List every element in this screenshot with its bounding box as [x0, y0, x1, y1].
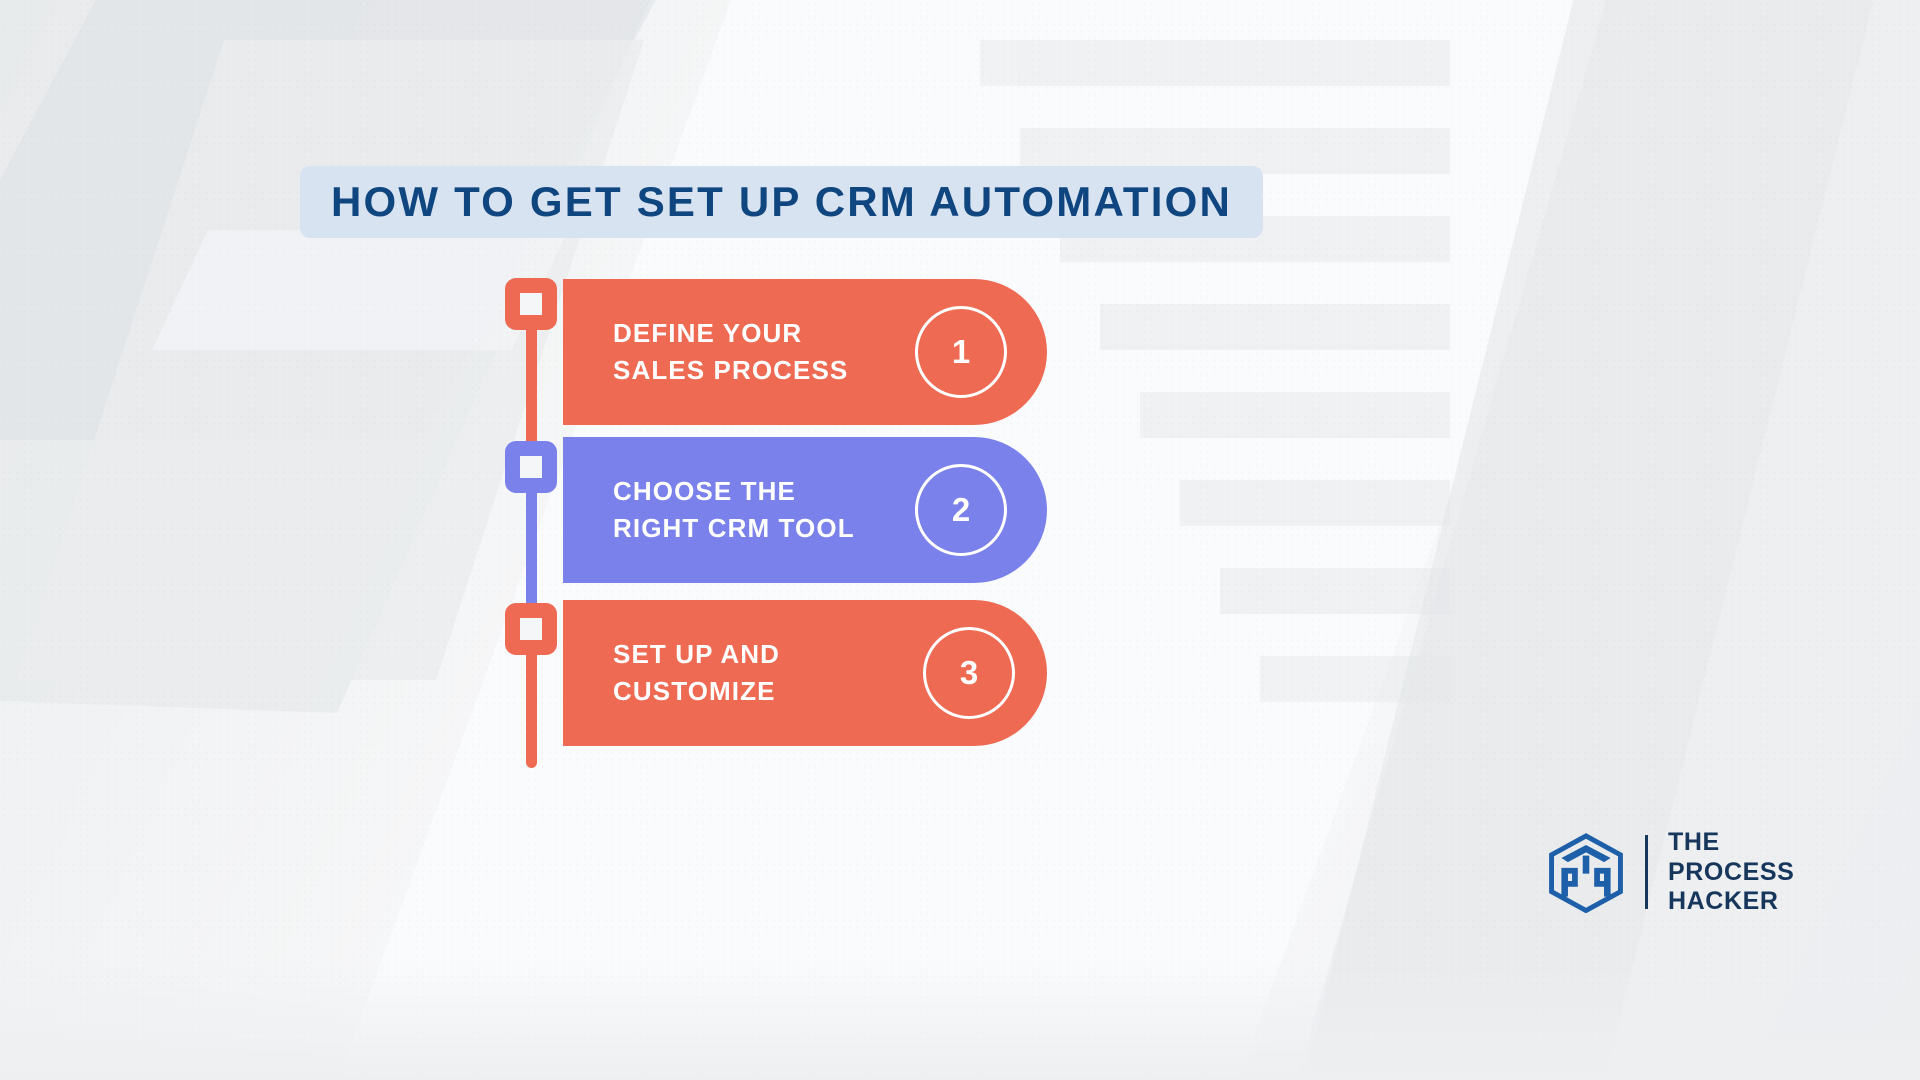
step-badge-1: 1 [915, 306, 1007, 398]
step-row-1[interactable]: DEFINE YOUR SALES PROCESS 1 [563, 279, 1047, 425]
step-badge-3: 3 [923, 627, 1015, 719]
timeline-node-square-icon [520, 293, 542, 315]
step-badge-2: 2 [915, 464, 1007, 556]
background-bottom-band [0, 960, 1920, 1080]
timeline-node-1 [505, 278, 557, 330]
isometric-cube-logo-icon [1545, 831, 1627, 913]
step-number-3: 3 [960, 654, 978, 692]
logo-wordmark: THE PROCESS HACKER [1668, 828, 1794, 917]
infographic-canvas: HOW TO GET SET UP CRM AUTOMATION DEFINE … [0, 0, 1920, 1080]
page-title: HOW TO GET SET UP CRM AUTOMATION [331, 178, 1232, 226]
step-label-2: CHOOSE THE RIGHT CRM TOOL [613, 473, 855, 547]
timeline-rail [505, 278, 565, 768]
brand-logo: THE PROCESS HACKER [1545, 828, 1794, 917]
step-label-3: SET UP AND CUSTOMIZE [613, 636, 780, 710]
timeline-node-square-icon [520, 618, 542, 640]
step-row-3[interactable]: SET UP AND CUSTOMIZE 3 [563, 600, 1047, 746]
step-number-2: 2 [952, 491, 970, 529]
step-label-1: DEFINE YOUR SALES PROCESS [613, 315, 848, 389]
logo-divider [1645, 835, 1648, 909]
page-title-banner: HOW TO GET SET UP CRM AUTOMATION [300, 166, 1263, 238]
timeline-node-3 [505, 603, 557, 655]
step-row-2[interactable]: CHOOSE THE RIGHT CRM TOOL 2 [563, 437, 1047, 583]
step-number-1: 1 [952, 333, 970, 371]
timeline-node-square-icon [520, 456, 542, 478]
timeline-node-2 [505, 441, 557, 493]
